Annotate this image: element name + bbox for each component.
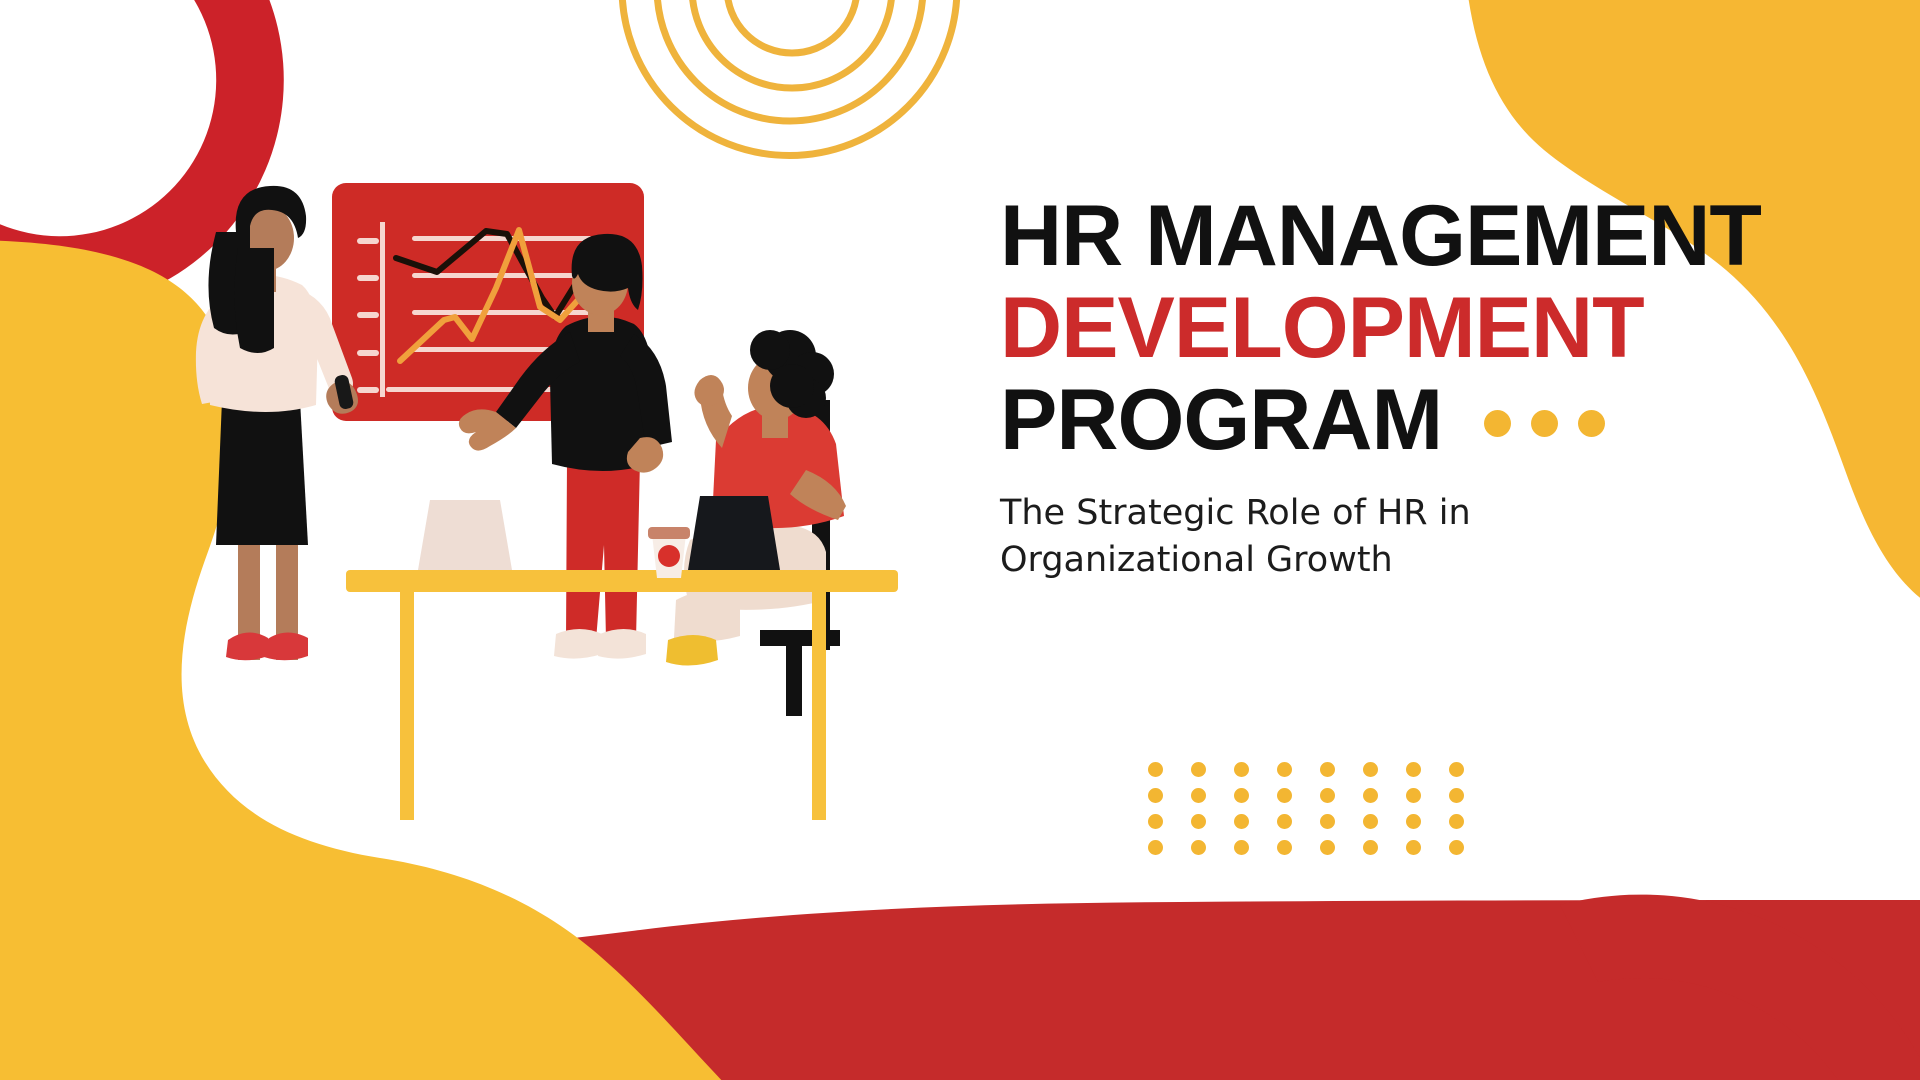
grid-dot (1234, 814, 1249, 829)
grid-dot (1234, 762, 1249, 777)
decorative-dot-grid (1148, 762, 1492, 866)
accent-dot (1578, 410, 1605, 437)
grid-dot (1148, 840, 1163, 855)
subtitle-line-2: Organizational Growth (1000, 537, 1560, 584)
grid-dot (1234, 788, 1249, 803)
laptop-black (688, 496, 780, 570)
grid-dot (1191, 788, 1206, 803)
grid-dot (1320, 814, 1335, 829)
grid-dot (1406, 814, 1421, 829)
title-block: HR MANAGEMENT DEVELOPMENT PROGRAM The St… (1000, 190, 1820, 583)
grid-dot (1277, 788, 1292, 803)
headline-line-3: PROGRAM (1000, 374, 1442, 466)
grid-dot (1234, 840, 1249, 855)
accent-dot (1531, 410, 1558, 437)
grid-dot (1363, 840, 1378, 855)
accent-dot (1484, 410, 1511, 437)
grid-dot (1277, 762, 1292, 777)
grid-dot (1363, 788, 1378, 803)
grid-dot (1191, 814, 1206, 829)
grid-dot (1449, 814, 1464, 829)
grid-dot (1320, 788, 1335, 803)
grid-dot (1406, 840, 1421, 855)
grid-dot (1363, 762, 1378, 777)
grid-dot (1363, 814, 1378, 829)
grid-dot (1277, 814, 1292, 829)
grid-dot (1406, 788, 1421, 803)
headline-line-1: HR MANAGEMENT (1000, 190, 1820, 282)
laptop-cream (418, 500, 512, 570)
grid-dot (1406, 762, 1421, 777)
subtitle: The Strategic Role of HR in Organization… (1000, 490, 1560, 583)
grid-dot (1191, 840, 1206, 855)
accent-dot-trio (1484, 410, 1605, 437)
grid-dot (1148, 762, 1163, 777)
grid-dot (1449, 788, 1464, 803)
slide-canvas: HR MANAGEMENT DEVELOPMENT PROGRAM The St… (0, 0, 1920, 1080)
grid-dot (1449, 840, 1464, 855)
grid-dot (1320, 840, 1335, 855)
grid-dot (1191, 762, 1206, 777)
grid-dot (1449, 762, 1464, 777)
grid-dot (1277, 840, 1292, 855)
headline-line-3-row: PROGRAM (1000, 374, 1820, 466)
grid-dot (1320, 762, 1335, 777)
subtitle-line-1: The Strategic Role of HR in (1000, 490, 1560, 537)
grid-dot (1148, 788, 1163, 803)
grid-dot (1148, 814, 1163, 829)
headline-line-2: DEVELOPMENT (1000, 282, 1820, 374)
